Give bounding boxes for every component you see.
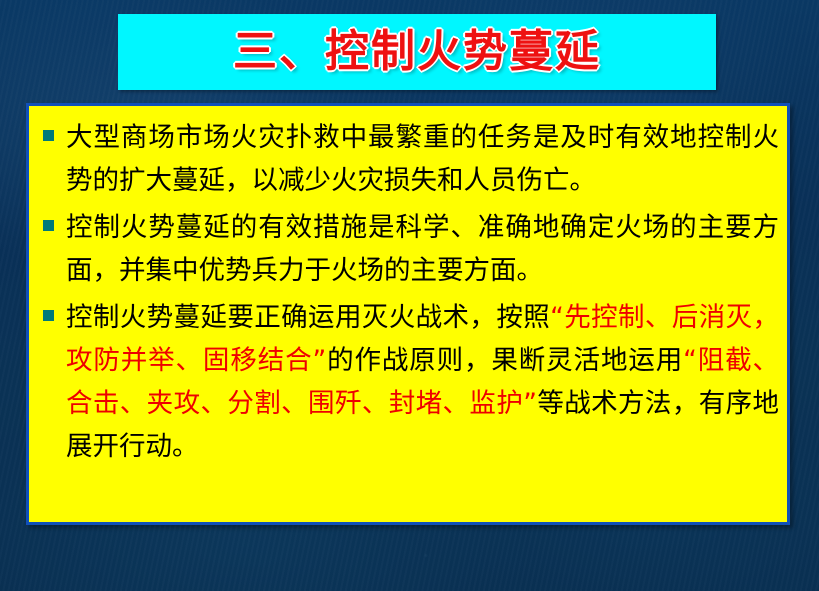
slide-content-panel: 大型商场市场火灾扑救中最繁重的任务是及时有效地控制火势的扩大蔓延，以减少火灾损失… <box>26 103 790 525</box>
body-phrase: 控制火势蔓延的有效措施是科学、准确地确定火场的主要方面，并集中优势兵力于火场的主… <box>66 212 779 286</box>
list-item: 大型商场市场火灾扑救中最繁重的任务是及时有效地控制火势的扩大蔓延，以减少火灾损失… <box>37 116 779 202</box>
list-item: 控制火势蔓延的有效措施是科学、准确地确定火场的主要方面，并集中优势兵力于火场的主… <box>37 206 779 292</box>
bullet-text-3: 控制火势蔓延要正确运用灭火战术，按照“先控制、后消灭，攻防并举、固移结合”的作战… <box>66 296 779 468</box>
slide-title-banner: 三、控制火势蔓延 <box>118 14 716 90</box>
square-bullet-icon <box>43 310 54 321</box>
bullet-text-1: 大型商场市场火灾扑救中最繁重的任务是及时有效地控制火势的扩大蔓延，以减少火灾损失… <box>66 116 779 202</box>
page-title: 三、控制火势蔓延 <box>233 30 601 74</box>
square-bullet-icon <box>43 130 54 141</box>
body-phrase: 大型商场市场火灾扑救中最繁重的任务是及时有效地控制火势的扩大蔓延，以减少火灾损失… <box>66 122 779 196</box>
square-bullet-icon <box>43 220 54 231</box>
list-item: 控制火势蔓延要正确运用灭火战术，按照“先控制、后消灭，攻防并举、固移结合”的作战… <box>37 296 779 468</box>
presentation-slide: 三、控制火势蔓延 大型商场市场火灾扑救中最繁重的任务是及时有效地控制火势的扩大蔓… <box>0 0 819 591</box>
bullet-text-2: 控制火势蔓延的有效措施是科学、准确地确定火场的主要方面，并集中优势兵力于火场的主… <box>66 206 779 292</box>
body-phrase: 控制火势蔓延要正确运用灭火战术，按照 <box>66 302 550 333</box>
body-phrase: 的作战原则，果断灵活地运用 <box>326 345 683 376</box>
